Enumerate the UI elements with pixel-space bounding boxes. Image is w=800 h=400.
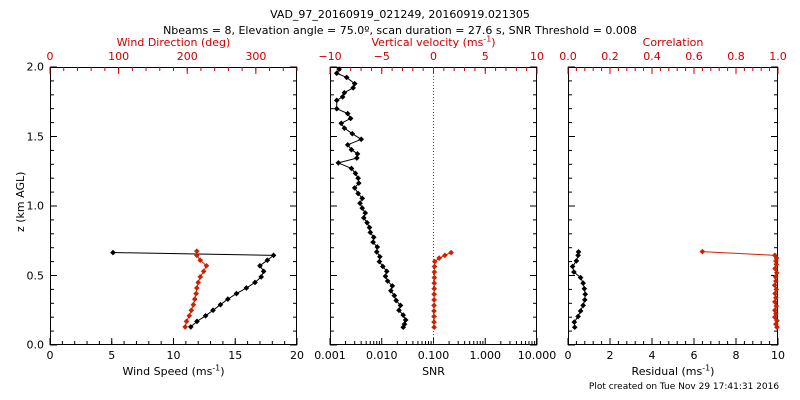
top-tick-label: 5	[482, 50, 489, 63]
page-title: VAD_97_20160919_021249, 20160919.021305	[0, 8, 800, 21]
bottom-tick-label: 6	[691, 349, 698, 362]
bottom-tick-label: 0	[565, 349, 572, 362]
top-tick-label: 10	[530, 50, 544, 63]
plot-frame-panel-2	[330, 67, 537, 345]
plot-frame-panel-1	[50, 67, 297, 345]
bottom-tick-label: 15	[228, 349, 242, 362]
y-tick-label: 1.5	[8, 130, 44, 143]
bottom-tick-label: 1.000	[470, 349, 502, 362]
top-tick-label: 0.6	[685, 50, 703, 63]
bottom-axis-title-panel-1: Wind Speed (ms-1)	[50, 365, 297, 378]
bottom-tick-label: 4	[649, 349, 656, 362]
bottom-tick-label: 2	[607, 349, 614, 362]
plot-creation-credit: Plot created on Tue Nov 29 17:41:31 2016	[568, 382, 800, 392]
bottom-tick-label: 0.001	[314, 349, 346, 362]
bottom-tick-label: 20	[290, 349, 304, 362]
top-tick-label: 0.2	[601, 50, 619, 63]
top-axis-title-panel-2: Vertical velocity (ms-1)	[330, 36, 537, 49]
bottom-axis-title-panel-2: SNR	[330, 365, 537, 378]
top-tick-label: 0.8	[727, 50, 745, 63]
top-tick-label: 300	[245, 50, 266, 63]
y-tick-label: 2.0	[8, 61, 44, 74]
bottom-tick-label: 5	[108, 349, 115, 362]
bottom-axis-title-panel-3: Residual (ms-1)	[568, 365, 778, 378]
top-tick-label: 1.0	[769, 50, 787, 63]
top-tick-label: −5	[374, 50, 390, 63]
top-axis-title-panel-3: Correlation	[568, 36, 778, 49]
top-tick-label: 100	[108, 50, 129, 63]
bottom-tick-label: 10	[771, 349, 785, 362]
y-tick-label: 0.0	[8, 339, 44, 352]
vad-wind-profile-figure: VAD_97_20160919_021249, 20160919.021305 …	[0, 0, 800, 400]
top-tick-label: 0.0	[559, 50, 577, 63]
bottom-tick-label: 0.100	[418, 349, 450, 362]
top-axis-title-panel-1: Wind Direction (deg)	[50, 36, 297, 49]
bottom-tick-label: 0.010	[366, 349, 398, 362]
bottom-tick-label: 10.000	[518, 349, 557, 362]
y-tick-label: 0.5	[8, 269, 44, 282]
bottom-tick-label: 8	[733, 349, 740, 362]
y-tick-label: 1.0	[8, 200, 44, 213]
plot-frame-panel-3	[568, 67, 778, 345]
top-tick-label: 0	[47, 50, 54, 63]
bottom-tick-label: 10	[167, 349, 181, 362]
top-tick-label: 0.4	[643, 50, 661, 63]
top-tick-label: 200	[177, 50, 198, 63]
bottom-tick-label: 0	[47, 349, 54, 362]
top-tick-label: 0	[430, 50, 437, 63]
top-tick-label: −10	[318, 50, 341, 63]
